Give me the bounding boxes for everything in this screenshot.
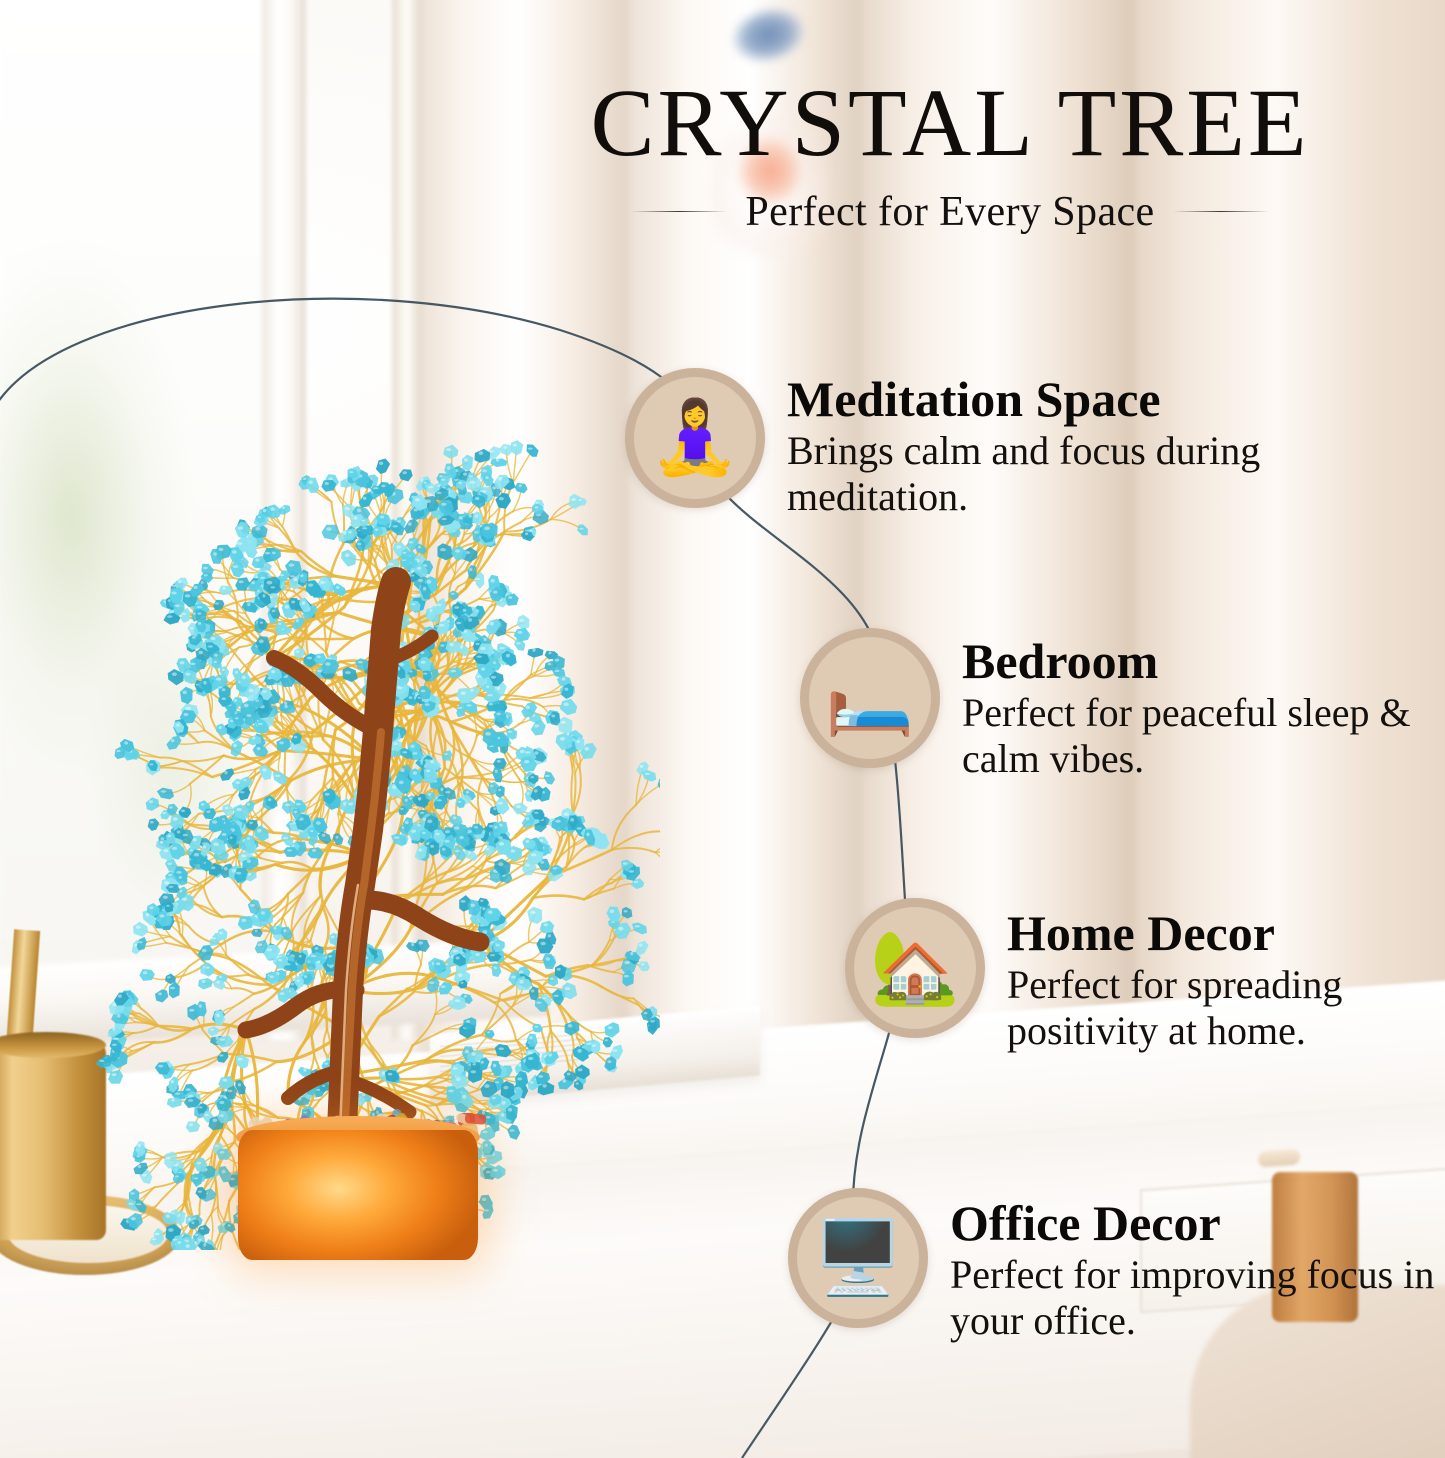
bed-icon: 🛏️ [825, 662, 915, 734]
feature-description-meditation: Brings calm and focus during meditation. [787, 428, 1407, 519]
tree-wooden-base [238, 1130, 478, 1260]
feature-icon-badge-office-decor: 🖥️ [788, 1188, 928, 1328]
feature-icon-badge-meditation: 🧘‍♀️ [625, 368, 765, 508]
desktop-computer-icon: 🖥️ [813, 1222, 903, 1294]
feature-text-meditation: Meditation Space Brings calm and focus d… [787, 374, 1407, 519]
feature-description-office-decor: Perfect for improving focus in your offi… [950, 1252, 1445, 1343]
feature-title-office-decor: Office Decor [950, 1198, 1445, 1248]
crystal-tree-product [60, 430, 660, 1250]
feature-title-home-decor: Home Decor [1007, 908, 1445, 958]
feature-text-bedroom: Bedroom Perfect for peaceful sleep & cal… [962, 636, 1445, 781]
subtitle-rule-left [631, 211, 727, 212]
page-subtitle: Perfect for Every Space [745, 188, 1154, 236]
feature-title-bedroom: Bedroom [962, 636, 1445, 686]
feature-item-meditation: 🧘‍♀️ Meditation Space Brings calm and fo… [625, 368, 1407, 519]
feature-item-home-decor: 🏡 Home Decor Perfect for spreading posit… [845, 898, 1445, 1053]
product-infographic: CRYSTAL TREE Perfect for Every Space 🧘‍♀… [0, 0, 1445, 1458]
feature-item-office-decor: 🖥️ Office Decor Perfect for improving fo… [788, 1188, 1445, 1343]
feature-icon-badge-bedroom: 🛏️ [800, 628, 940, 768]
feature-text-office-decor: Office Decor Perfect for improving focus… [950, 1198, 1445, 1343]
desk-drawer-knob [1258, 1149, 1300, 1168]
feature-icon-badge-home-decor: 🏡 [845, 898, 985, 1038]
curtain-bird-motif [718, 0, 820, 78]
subtitle-rule-right [1173, 211, 1269, 212]
person-in-lotus-position-icon: 🧘‍♀️ [650, 402, 740, 474]
feature-title-meditation: Meditation Space [787, 374, 1407, 424]
page-title: CRYSTAL TREE [480, 74, 1420, 172]
feature-description-bedroom: Perfect for peaceful sleep & calm vibes. [962, 690, 1445, 781]
title-block: CRYSTAL TREE Perfect for Every Space [480, 74, 1420, 236]
base-crystal-chip [465, 1113, 487, 1125]
feature-text-home-decor: Home Decor Perfect for spreading positiv… [1007, 908, 1445, 1053]
feature-item-bedroom: 🛏️ Bedroom Perfect for peaceful sleep & … [800, 628, 1445, 781]
feature-description-home-decor: Perfect for spreading positivity at home… [1007, 962, 1445, 1053]
house-with-garden-icon: 🏡 [870, 932, 960, 1004]
subtitle-row: Perfect for Every Space [480, 188, 1420, 236]
